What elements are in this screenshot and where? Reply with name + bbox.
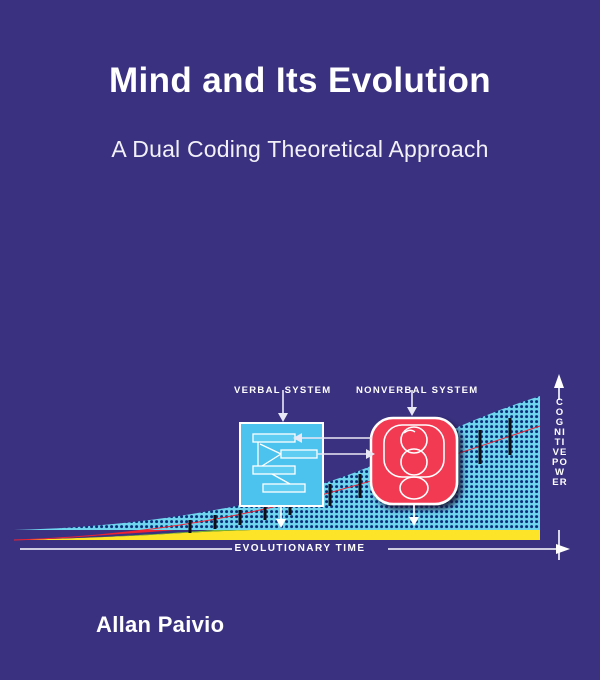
x-axis-label: EVOLUTIONARY TIME [0, 543, 600, 554]
verbal-system-label: VERBAL SYSTEM [234, 385, 332, 396]
author-name: Allan Paivio [96, 612, 224, 638]
book-cover: Mind and Its Evolution A Dual Coding The… [0, 0, 600, 680]
y-axis-label: COGNITIVE POWER [552, 398, 568, 488]
nonverbal-system-label: NONVERBAL SYSTEM [356, 385, 479, 396]
page-subtitle: A Dual Coding Theoretical Approach [0, 136, 600, 163]
nonverbal-label-arrowhead [407, 407, 417, 416]
cover-diagram [0, 370, 600, 570]
page-title: Mind and Its Evolution [0, 62, 600, 101]
verbal-label-arrowhead [278, 413, 288, 422]
